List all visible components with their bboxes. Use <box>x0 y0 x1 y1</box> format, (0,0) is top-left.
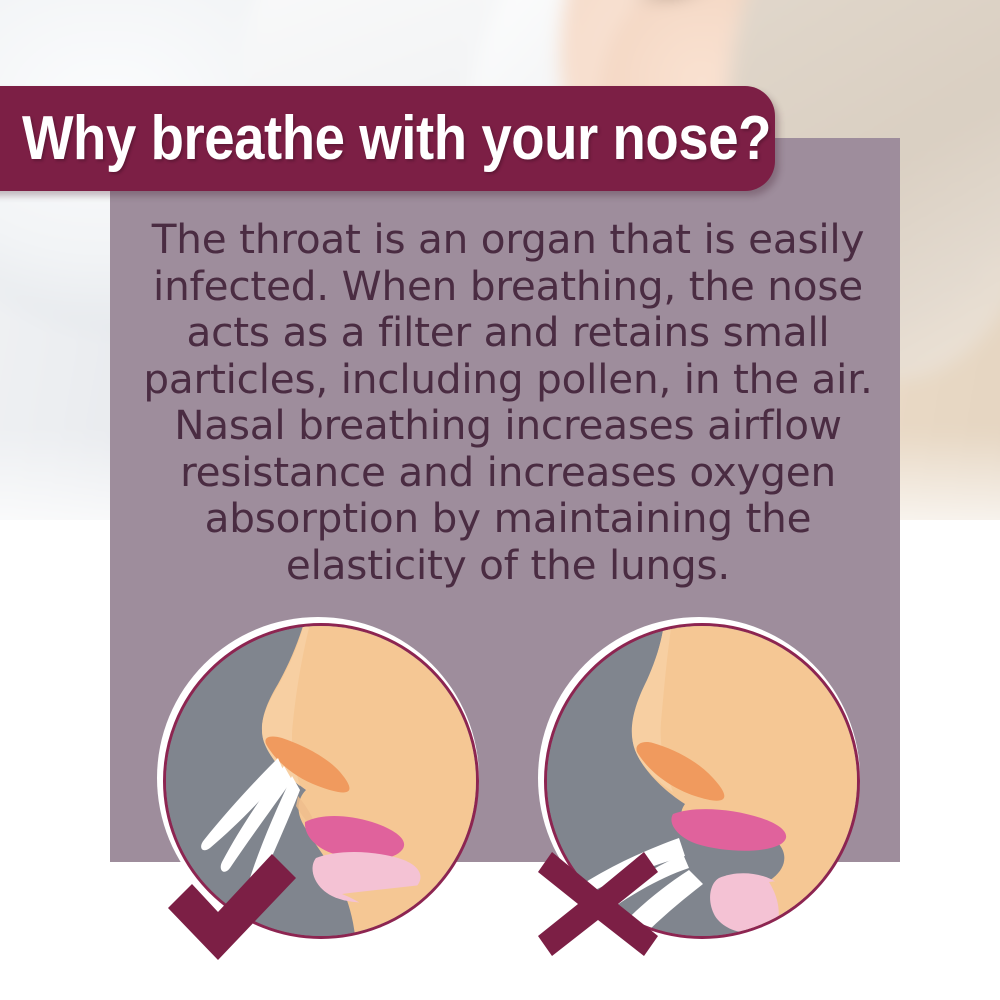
title-banner: Why breathe with your nose? <box>0 86 775 191</box>
circle-inner-mouth <box>544 623 860 939</box>
mouth-breathing-art <box>547 626 857 936</box>
body-paragraph: The throat is an organ that is easily in… <box>134 216 882 588</box>
page-title: Why breathe with your nose? <box>22 108 771 170</box>
illustration-mouth-breathing <box>538 617 860 939</box>
bottom-white-band-left <box>0 862 157 1000</box>
circle-inner-nasal <box>163 623 479 939</box>
poster-canvas: Why breathe with your nose? The throat i… <box>0 0 1000 1000</box>
illustration-nasal-breathing <box>157 617 479 939</box>
nasal-breathing-art <box>166 626 476 936</box>
